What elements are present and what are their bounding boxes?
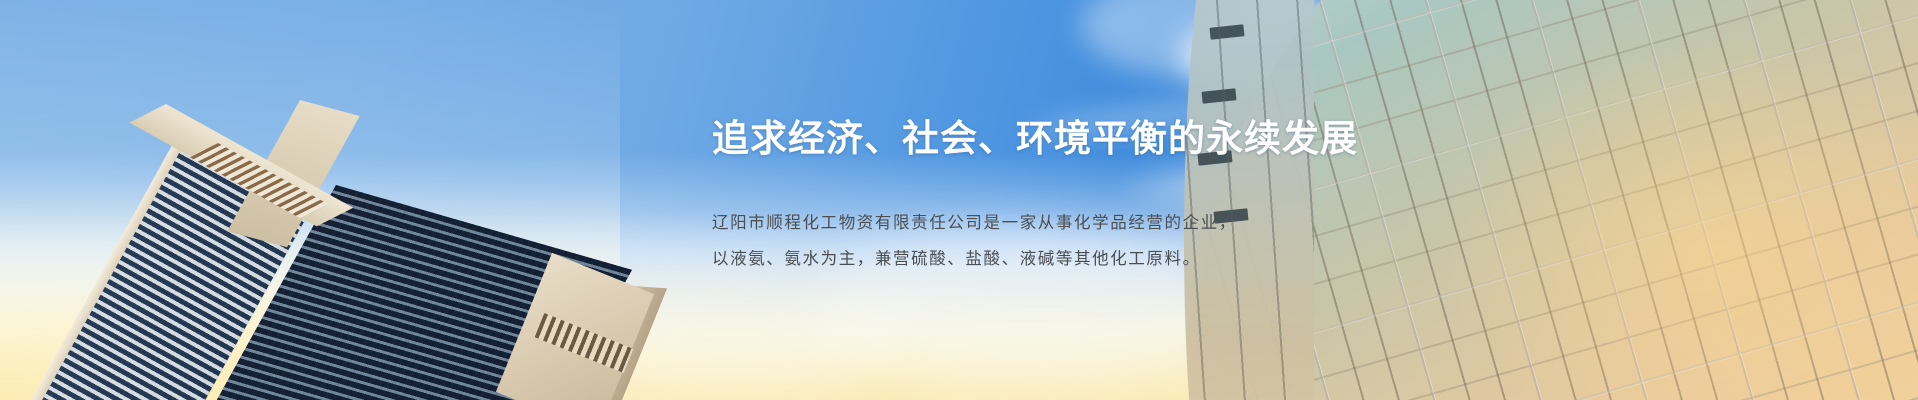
banner-headline: 追求经济、社会、环境平衡的永续发展 — [712, 118, 1372, 161]
banner-subtitle-line-2: 以液氨、氨水为主，兼营硫酸、盐酸、液碱等其他化工原料。 — [712, 241, 1372, 277]
banner-subtitle: 辽阳市顺程化工物资有限责任公司是一家从事化学品经营的企业， 以液氨、氨水为主，兼… — [712, 205, 1372, 278]
rim-vent-slot — [1201, 88, 1236, 103]
left-skyscraper — [0, 0, 700, 400]
banner-subtitle-line-1: 辽阳市顺程化工物资有限责任公司是一家从事化学品经营的企业， — [712, 205, 1372, 241]
banner-copy: 追求经济、社会、环境平衡的永续发展 辽阳市顺程化工物资有限责任公司是一家从事化学… — [712, 118, 1372, 277]
rim-vent-slot — [1209, 24, 1244, 39]
hero-banner: 追求经济、社会、环境平衡的永续发展 辽阳市顺程化工物资有限责任公司是一家从事化学… — [0, 0, 1918, 400]
